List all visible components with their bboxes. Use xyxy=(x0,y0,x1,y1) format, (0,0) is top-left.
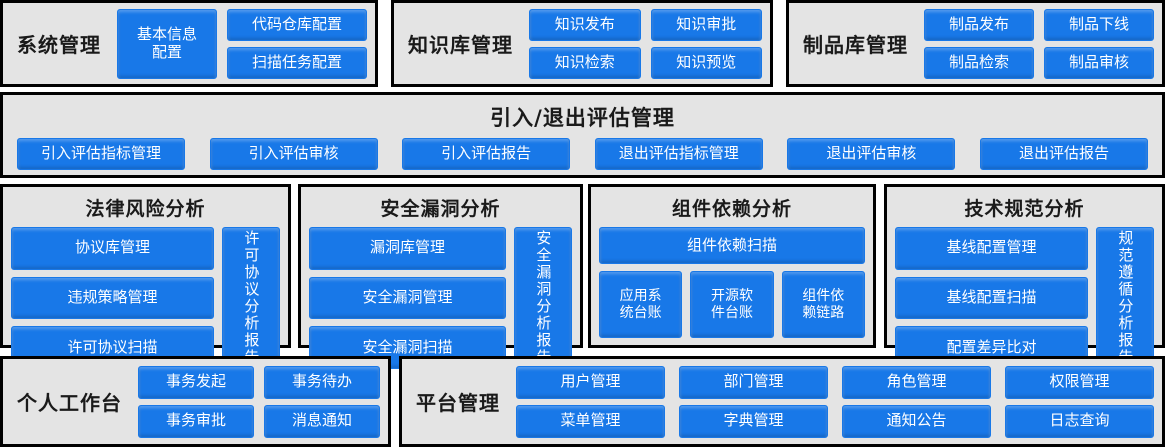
button-security-vulnerability-analysis-report[interactable]: 安全漏洞分析报告 xyxy=(514,227,572,369)
panel-title-personal-workbench: 个人工作台 xyxy=(11,387,128,416)
button-intro-eval-metric-management[interactable]: 引入评估指标管理 xyxy=(17,138,185,170)
button-role-management[interactable]: 角色管理 xyxy=(842,366,991,399)
button-component-dependency-scan[interactable]: 组件依赖扫描 xyxy=(599,227,865,264)
panel-title-system-management: 系统管理 xyxy=(11,29,107,58)
panel-system-management: 系统管理 基本信息 配置 代码仓库配置 扫描任务配置 xyxy=(0,0,378,87)
button-menu-management[interactable]: 菜单管理 xyxy=(516,405,665,438)
component-dependency-sub-buttons: 应用系 统台账 开源软 件台账 组件依 赖链路 xyxy=(599,271,865,338)
security-vulnerability-analysis-body: 漏洞库管理 安全漏洞管理 安全漏洞扫描 安全漏洞分析报告 xyxy=(309,227,572,369)
personal-workbench-row-bottom: 事务审批 消息通知 xyxy=(138,405,380,438)
panel-title-legal-risk-analysis: 法律风险分析 xyxy=(11,192,280,227)
panel-component-dependency-analysis: 组件依赖分析 组件依赖扫描 应用系 统台账 开源软 件台账 组件依 赖链路 xyxy=(588,184,876,348)
panel-title-knowledge-base: 知识库管理 xyxy=(402,29,519,58)
button-product-audit[interactable]: 制品审核 xyxy=(1044,47,1154,79)
button-product-offline[interactable]: 制品下线 xyxy=(1044,9,1154,41)
system-function-map: 系统管理 基本信息 配置 代码仓库配置 扫描任务配置 知识库管理 知识发布 知识… xyxy=(0,0,1165,447)
button-violation-policy-management[interactable]: 违规策略管理 xyxy=(11,277,214,320)
panel-personal-workbench: 个人工作台 事务发起 事务待办 事务审批 消息通知 xyxy=(0,356,391,447)
button-task-todo[interactable]: 事务待办 xyxy=(264,366,380,399)
system-management-secondary-buttons: 代码仓库配置 扫描任务配置 xyxy=(227,9,367,79)
button-exit-eval-metric-management[interactable]: 退出评估指标管理 xyxy=(595,138,763,170)
button-knowledge-preview[interactable]: 知识预览 xyxy=(651,47,763,79)
button-specification-compliance-analysis-report[interactable]: 规范遵循分析报告 xyxy=(1096,227,1154,369)
button-knowledge-approval[interactable]: 知识审批 xyxy=(651,9,763,41)
system-management-buttons: 基本信息 配置 代码仓库配置 扫描任务配置 xyxy=(117,9,367,79)
button-open-source-software-ledger[interactable]: 开源软 件台账 xyxy=(690,271,773,338)
button-dictionary-management[interactable]: 字典管理 xyxy=(679,405,828,438)
button-vulnerability-library-management[interactable]: 漏洞库管理 xyxy=(309,227,506,270)
panel-product-library-management: 制品库管理 制品发布 制品下线 制品检索 制品审核 xyxy=(786,0,1165,87)
button-security-vulnerability-management[interactable]: 安全漏洞管理 xyxy=(309,277,506,320)
security-vulnerability-analysis-buttons: 漏洞库管理 安全漏洞管理 安全漏洞扫描 xyxy=(309,227,506,369)
button-baseline-config-scan[interactable]: 基线配置扫描 xyxy=(895,277,1088,320)
product-library-buttons: 制品发布 制品下线 制品检索 制品审核 xyxy=(924,9,1154,79)
button-license-analysis-report[interactable]: 许可协议分析报告 xyxy=(222,227,280,369)
button-user-management[interactable]: 用户管理 xyxy=(516,366,665,399)
button-permission-management[interactable]: 权限管理 xyxy=(1005,366,1154,399)
panel-title-evaluation-management: 引入/退出评估管理 xyxy=(11,100,1154,138)
product-library-row-top: 制品发布 制品下线 xyxy=(924,9,1154,41)
evaluation-management-buttons: 引入评估指标管理 引入评估审核 引入评估报告 退出评估指标管理 退出评估审核 退… xyxy=(11,138,1154,170)
panel-platform-management: 平台管理 用户管理 部门管理 角色管理 权限管理 菜单管理 字典管理 通知公告 … xyxy=(399,356,1165,447)
technical-specification-analysis-body: 基线配置管理 基线配置扫描 配置差异比对 规范遵循分析报告 xyxy=(895,227,1154,369)
panel-evaluation-management: 引入/退出评估管理 引入评估指标管理 引入评估审核 引入评估报告 退出评估指标管… xyxy=(0,92,1165,178)
component-dependency-analysis-body: 组件依赖扫描 应用系 统台账 开源软 件台账 组件依 赖链路 xyxy=(599,227,865,338)
panel-knowledge-base-management: 知识库管理 知识发布 知识审批 知识检索 知识预览 xyxy=(391,0,773,87)
knowledge-base-row-bottom: 知识检索 知识预览 xyxy=(529,47,762,79)
legal-risk-analysis-buttons: 协议库管理 违规策略管理 许可协议扫描 xyxy=(11,227,214,369)
product-library-row-bottom: 制品检索 制品审核 xyxy=(924,47,1154,79)
button-log-query[interactable]: 日志查询 xyxy=(1005,405,1154,438)
legal-risk-analysis-body: 协议库管理 违规策略管理 许可协议扫描 许可协议分析报告 xyxy=(11,227,280,369)
panel-title-technical-specification-analysis: 技术规范分析 xyxy=(895,192,1154,227)
button-product-publish[interactable]: 制品发布 xyxy=(924,9,1034,41)
platform-management-row-top: 用户管理 部门管理 角色管理 权限管理 xyxy=(516,366,1154,399)
button-notice-announcement[interactable]: 通知公告 xyxy=(842,405,991,438)
panel-title-product-library: 制品库管理 xyxy=(797,29,914,58)
button-baseline-config-management[interactable]: 基线配置管理 xyxy=(895,227,1088,270)
button-department-management[interactable]: 部门管理 xyxy=(679,366,828,399)
knowledge-base-row-top: 知识发布 知识审批 xyxy=(529,9,762,41)
button-component-dependency-chain[interactable]: 组件依 赖链路 xyxy=(782,271,865,338)
button-code-repo-config[interactable]: 代码仓库配置 xyxy=(227,9,367,41)
button-exit-eval-review[interactable]: 退出评估审核 xyxy=(787,138,955,170)
button-intro-eval-report[interactable]: 引入评估报告 xyxy=(402,138,570,170)
button-task-approval[interactable]: 事务审批 xyxy=(138,405,254,438)
button-license-library-management[interactable]: 协议库管理 xyxy=(11,227,214,270)
button-exit-eval-report[interactable]: 退出评估报告 xyxy=(980,138,1148,170)
button-application-system-ledger[interactable]: 应用系 统台账 xyxy=(599,271,682,338)
button-basic-info-config[interactable]: 基本信息 配置 xyxy=(117,9,217,79)
button-intro-eval-review[interactable]: 引入评估审核 xyxy=(210,138,378,170)
panel-title-platform-management: 平台管理 xyxy=(410,387,506,416)
knowledge-base-buttons: 知识发布 知识审批 知识检索 知识预览 xyxy=(529,9,762,79)
panel-technical-specification-analysis: 技术规范分析 基线配置管理 基线配置扫描 配置差异比对 规范遵循分析报告 xyxy=(884,184,1165,348)
platform-management-buttons: 用户管理 部门管理 角色管理 权限管理 菜单管理 字典管理 通知公告 日志查询 xyxy=(516,366,1154,438)
button-task-initiate[interactable]: 事务发起 xyxy=(138,366,254,399)
button-product-search[interactable]: 制品检索 xyxy=(924,47,1034,79)
button-knowledge-publish[interactable]: 知识发布 xyxy=(529,9,641,41)
panel-legal-risk-analysis: 法律风险分析 协议库管理 违规策略管理 许可协议扫描 许可协议分析报告 xyxy=(0,184,291,348)
panel-title-security-vulnerability-analysis: 安全漏洞分析 xyxy=(309,192,572,227)
button-message-notification[interactable]: 消息通知 xyxy=(264,405,380,438)
platform-management-row-bottom: 菜单管理 字典管理 通知公告 日志查询 xyxy=(516,405,1154,438)
panel-security-vulnerability-analysis: 安全漏洞分析 漏洞库管理 安全漏洞管理 安全漏洞扫描 安全漏洞分析报告 xyxy=(298,184,583,348)
button-knowledge-search[interactable]: 知识检索 xyxy=(529,47,641,79)
personal-workbench-buttons: 事务发起 事务待办 事务审批 消息通知 xyxy=(138,366,380,438)
button-scan-task-config[interactable]: 扫描任务配置 xyxy=(227,47,367,79)
panel-title-component-dependency-analysis: 组件依赖分析 xyxy=(599,192,865,227)
personal-workbench-row-top: 事务发起 事务待办 xyxy=(138,366,380,399)
technical-specification-analysis-buttons: 基线配置管理 基线配置扫描 配置差异比对 xyxy=(895,227,1088,369)
